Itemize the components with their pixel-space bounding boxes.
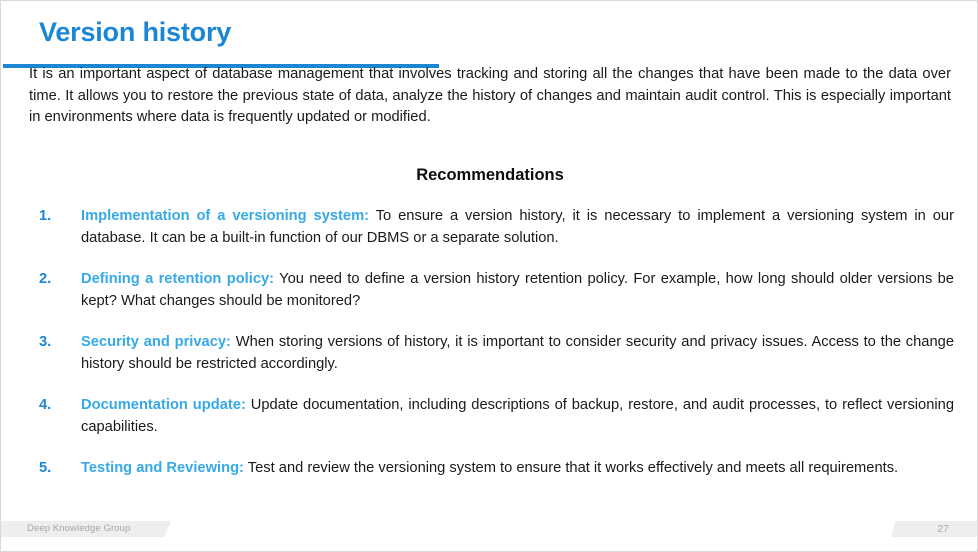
list-item-body: Test and review the versioning system to… (244, 460, 898, 476)
recommendations-heading: Recommendations (1, 166, 978, 185)
list-item-lead: Defining a retention policy: (81, 271, 274, 287)
list-item: 4. Documentation update: Update document… (29, 395, 954, 438)
list-item-lead: Implementation of a versioning system: (81, 208, 369, 224)
footer-organization: Deep Knowledge Group (27, 522, 130, 536)
list-item-lead: Documentation update: (81, 397, 246, 413)
footer-right-bar (891, 521, 977, 537)
page-title: Version history (39, 15, 231, 49)
list-item: 3. Security and privacy: When storing ve… (29, 332, 954, 375)
list-item-number: 5. (39, 458, 65, 480)
footer-page-number: 27 (937, 522, 949, 536)
list-item-number: 3. (39, 332, 65, 354)
list-item: 5. Testing and Reviewing: Test and revie… (29, 458, 954, 480)
title-block: Version history (1, 15, 441, 57)
list-item-number: 2. (39, 269, 65, 291)
list-item-number: 1. (39, 206, 65, 228)
list-item-lead: Testing and Reviewing: (81, 460, 244, 476)
slide-canvas: Version history It is an important aspec… (0, 0, 978, 552)
list-item-number: 4. (39, 395, 65, 417)
list-item-lead: Security and privacy: (81, 334, 231, 350)
list-item: 1. Implementation of a versioning system… (29, 206, 954, 249)
intro-paragraph: It is an important aspect of database ma… (29, 64, 951, 129)
list-item: 2. Defining a retention policy: You need… (29, 269, 954, 312)
recommendations-list: 1. Implementation of a versioning system… (29, 206, 954, 480)
